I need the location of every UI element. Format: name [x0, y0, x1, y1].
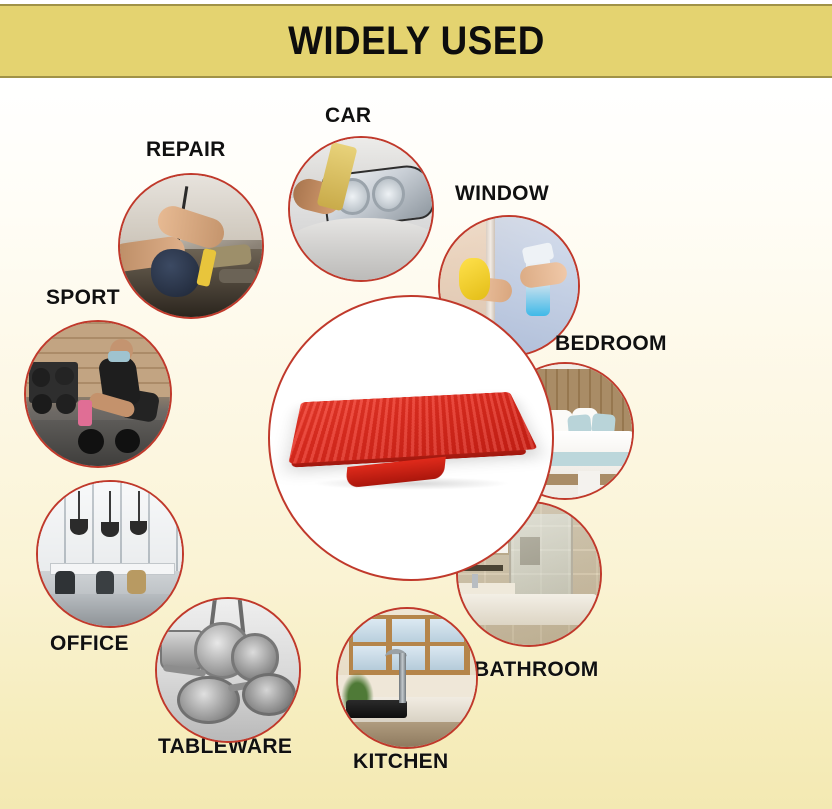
- scene-office: [38, 482, 182, 626]
- scene-sport: [26, 322, 170, 466]
- diagram-canvas: REPAIR CAR WIND: [0, 80, 832, 809]
- use-case-label-bedroom: BEDROOM: [555, 332, 667, 356]
- scene-car: [290, 138, 432, 280]
- use-case-label-repair: REPAIR: [146, 138, 226, 162]
- use-case-label-office: OFFICE: [50, 632, 129, 656]
- header-banner: WIDELY USED: [0, 4, 832, 78]
- use-case-label-kitchen: KITCHEN: [353, 750, 448, 774]
- use-case-label-sport: SPORT: [46, 286, 120, 310]
- use-case-image-sport[interactable]: [24, 320, 172, 468]
- page-title: WIDELY USED: [288, 19, 545, 64]
- microfiber-cloth-illustration: [287, 376, 535, 506]
- use-case-label-car: CAR: [325, 104, 371, 128]
- scene-kitchen: [338, 609, 476, 747]
- use-case-image-repair[interactable]: [118, 173, 264, 319]
- center-product-image[interactable]: [268, 295, 554, 581]
- scene-repair: [120, 175, 262, 317]
- use-case-image-car[interactable]: [288, 136, 434, 282]
- use-case-label-bathroom: BATHROOM: [474, 658, 599, 682]
- widely-used-infographic: WIDELY USED REPAIR CAR: [0, 0, 832, 809]
- use-case-image-office[interactable]: [36, 480, 184, 628]
- use-case-label-window: WINDOW: [455, 182, 549, 206]
- use-case-image-kitchen[interactable]: [336, 607, 478, 749]
